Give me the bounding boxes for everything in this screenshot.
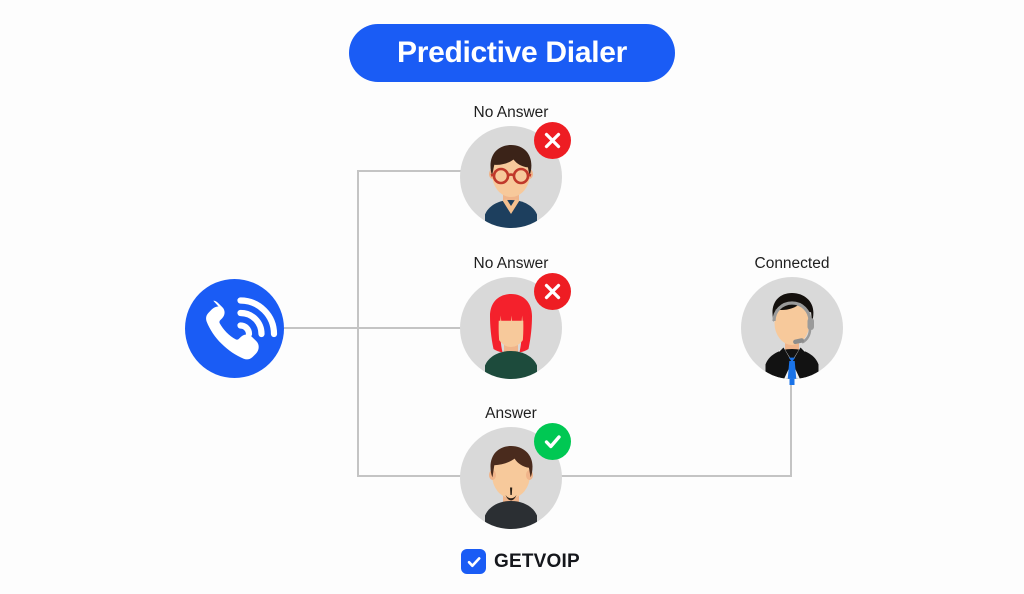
agent-node-label: Connected: [741, 255, 843, 273]
page-title: Predictive Dialer: [397, 36, 627, 70]
status-badge-no-answer: [534, 122, 571, 159]
check-square-icon: [461, 549, 486, 574]
agent-headset-avatar: [741, 277, 843, 379]
contact-node-1[interactable]: No Answer: [460, 104, 562, 230]
agent-node-connected[interactable]: Connected: [741, 255, 843, 385]
phone-call-icon: [185, 279, 284, 378]
connector-answer-to-agent-horizontal: [556, 475, 792, 477]
contact-node-3[interactable]: Answer: [460, 405, 562, 531]
connector-branch-middle: [357, 327, 465, 329]
getvoip-logo: GETVOIP: [461, 549, 580, 574]
page-title-pill: Predictive Dialer: [349, 24, 675, 82]
contact-node-2[interactable]: No Answer: [460, 255, 562, 381]
connector-answer-to-agent-vertical: [790, 382, 792, 477]
infographic-canvas: Predictive Dialer No Answer: [0, 0, 1024, 594]
check-mark-icon: [542, 431, 563, 452]
contact-node-3-label: Answer: [460, 405, 562, 423]
contact-node-1-label: No Answer: [460, 104, 562, 122]
connector-branch-top: [357, 170, 465, 172]
logo-wordmark: GETVOIP: [494, 551, 580, 573]
status-badge-answer: [534, 423, 571, 460]
connector-vertical-trunk: [357, 170, 359, 477]
contact-node-2-label: No Answer: [460, 255, 562, 273]
connector-branch-bottom: [357, 475, 465, 477]
x-mark-icon: [543, 131, 562, 150]
dialer-source-node[interactable]: [185, 279, 284, 378]
x-mark-icon: [543, 282, 562, 301]
connector-source-stub: [284, 327, 358, 329]
status-badge-no-answer: [534, 273, 571, 310]
